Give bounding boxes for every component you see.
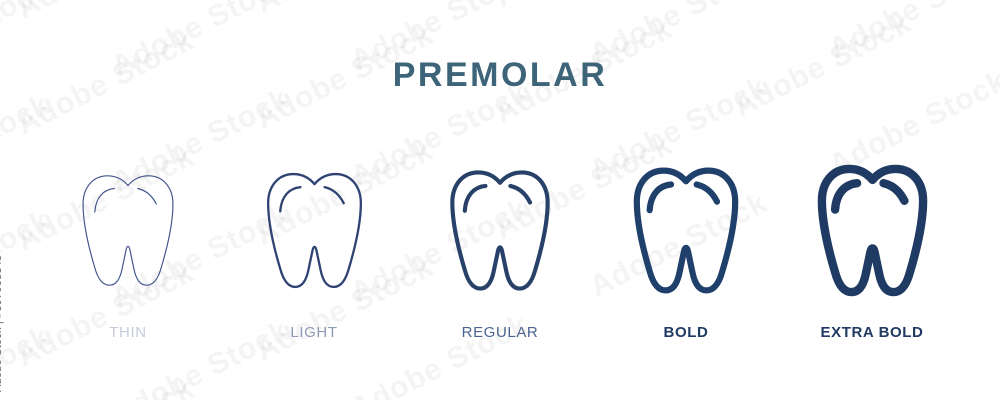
icon-weight-cell-extra-bold[interactable]: EXTRA BOLD <box>779 150 965 341</box>
icon-weight-cell-regular[interactable]: REGULAR <box>407 150 593 341</box>
weight-label: BOLD <box>664 324 709 341</box>
weight-label: EXTRA BOLD <box>821 324 924 341</box>
premolar-tooth-icon[interactable] <box>627 150 745 310</box>
premolar-tooth-icon[interactable] <box>259 150 370 310</box>
weight-label: THIN <box>109 324 146 341</box>
weight-label: REGULAR <box>462 324 539 341</box>
icon-weight-row: THINLIGHTREGULARBOLDEXTRA BOLD <box>0 150 1000 360</box>
premolar-tooth-icon[interactable] <box>74 150 182 310</box>
page-title: PREMOLAR <box>0 56 1000 95</box>
icon-weight-cell-bold[interactable]: BOLD <box>593 150 779 341</box>
weight-label: LIGHT <box>290 324 337 341</box>
premolar-tooth-icon[interactable] <box>812 150 933 310</box>
icon-weight-cell-light[interactable]: LIGHT <box>221 150 407 341</box>
icon-weight-cell-thin[interactable]: THIN <box>35 150 221 341</box>
watermark-tile-row: Adobe StockAdobe StockAdobe StockAdobe S… <box>0 0 1000 32</box>
icon-showcase-canvas: Adobe StockAdobe StockAdobe StockAdobe S… <box>0 0 1000 400</box>
stock-credit-watermark: Adobe Stock | #597068345 <box>0 255 4 392</box>
premolar-tooth-icon[interactable] <box>443 150 557 310</box>
